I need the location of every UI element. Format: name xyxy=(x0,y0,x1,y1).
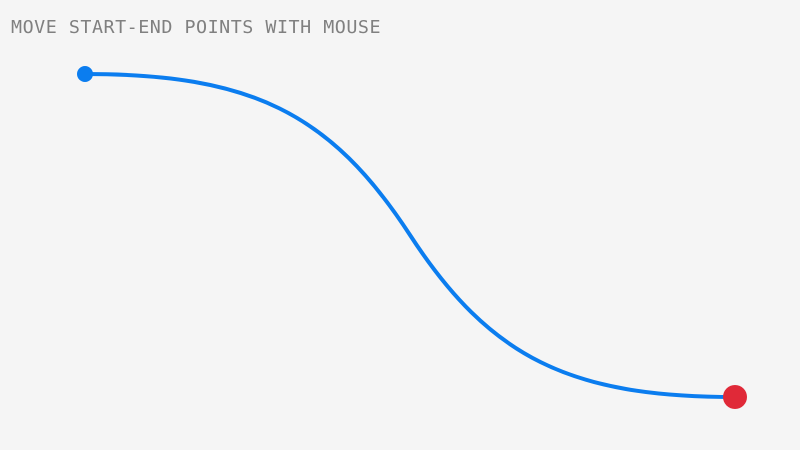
canvas-stage: MOVE START-END POINTS WITH MOUSE xyxy=(0,0,800,450)
bezier-curve xyxy=(85,74,735,397)
end-point-handle[interactable] xyxy=(723,385,747,409)
start-point-handle[interactable] xyxy=(77,66,93,82)
bezier-canvas[interactable] xyxy=(0,0,800,450)
